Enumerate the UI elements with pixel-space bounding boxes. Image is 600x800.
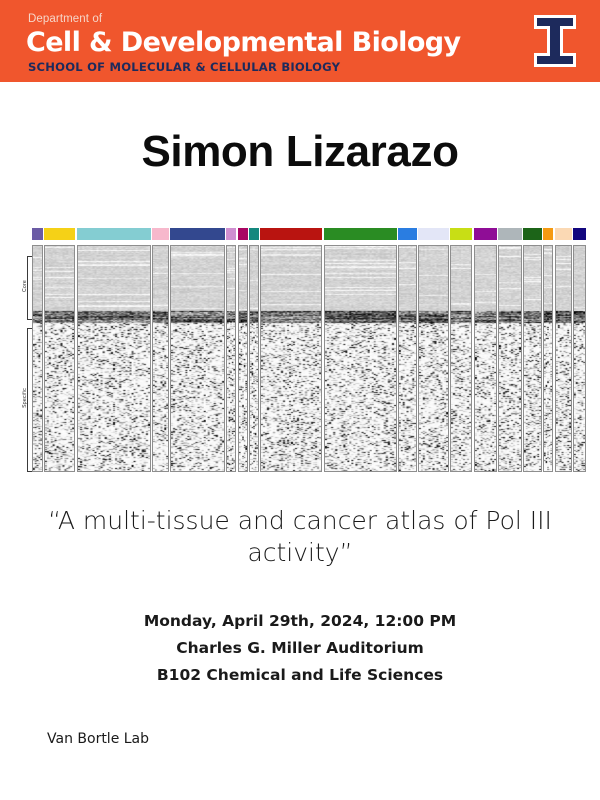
column-annotation-swatch — [44, 228, 75, 240]
speaker-name: Simon Lizarazo — [0, 127, 600, 177]
header-banner: Department of Cell & Developmental Biolo… — [0, 0, 600, 82]
column-annotation-swatch — [226, 228, 236, 240]
column-annotation-swatch — [450, 228, 472, 240]
column-annotation-swatch — [249, 228, 259, 240]
column-annotation-swatch — [498, 228, 522, 240]
row-group-axis: CoreSpecific — [14, 254, 32, 472]
heatmap-column-block — [152, 245, 169, 472]
heatmap-column-block — [573, 245, 586, 472]
column-annotation-swatch — [32, 228, 43, 240]
department-name: Cell & Developmental Biology — [26, 27, 461, 58]
heatmap-column-block — [418, 245, 449, 472]
row-group-label-core: Core — [22, 268, 28, 304]
heatmap-column-block — [474, 245, 497, 472]
heatmap-column-block — [398, 245, 417, 472]
column-annotation-swatch — [260, 228, 322, 240]
department-eyebrow: Department of — [28, 13, 102, 25]
column-annotation-swatch — [555, 228, 572, 240]
event-venue: Charles G. Miller Auditorium — [0, 635, 600, 662]
heatmap-column-block — [324, 245, 397, 472]
event-building: B102 Chemical and Life Sciences — [0, 662, 600, 689]
column-annotation-swatch — [152, 228, 169, 240]
column-annotation-swatch — [523, 228, 542, 240]
talk-title: “A multi-tissue and cancer atlas of Pol … — [40, 505, 560, 569]
column-annotation-swatch — [543, 228, 553, 240]
heatmap-column-block — [226, 245, 236, 472]
pol3-activity-heatmap-figure: CoreSpecific — [14, 228, 586, 476]
school-name: SCHOOL OF MOLECULAR & CELLULAR BIOLOGY — [28, 60, 340, 74]
column-annotation-swatch — [77, 228, 151, 240]
heatmap-column-block — [44, 245, 75, 472]
heatmap-column-block — [32, 245, 43, 472]
column-annotation-swatch — [418, 228, 449, 240]
lab-name: Van Bortle Lab — [47, 731, 149, 747]
column-annotation-swatch — [573, 228, 586, 240]
column-annotation-swatch — [170, 228, 225, 240]
heatmap-column-block — [543, 245, 553, 472]
heatmap-column-block — [450, 245, 472, 472]
column-annotation-swatch — [238, 228, 248, 240]
event-details: Monday, April 29th, 2024, 12:00 PM Charl… — [0, 608, 600, 689]
heatmap-columns — [32, 228, 586, 474]
heatmap-column-block — [260, 245, 322, 472]
heatmap-column-block — [498, 245, 522, 472]
column-annotation-swatch — [324, 228, 397, 240]
heatmap-column-block — [523, 245, 542, 472]
column-annotation-swatch — [398, 228, 417, 240]
column-annotation-swatch — [474, 228, 497, 240]
heatmap-column-block — [170, 245, 225, 472]
heatmap-column-block — [238, 245, 248, 472]
illinois-block-i-logo — [531, 12, 579, 70]
heatmap-column-block — [77, 245, 151, 472]
event-datetime: Monday, April 29th, 2024, 12:00 PM — [0, 608, 600, 635]
row-group-label-specific: Specific — [22, 380, 28, 416]
heatmap-column-block — [555, 245, 572, 472]
heatmap-column-block — [249, 245, 259, 472]
